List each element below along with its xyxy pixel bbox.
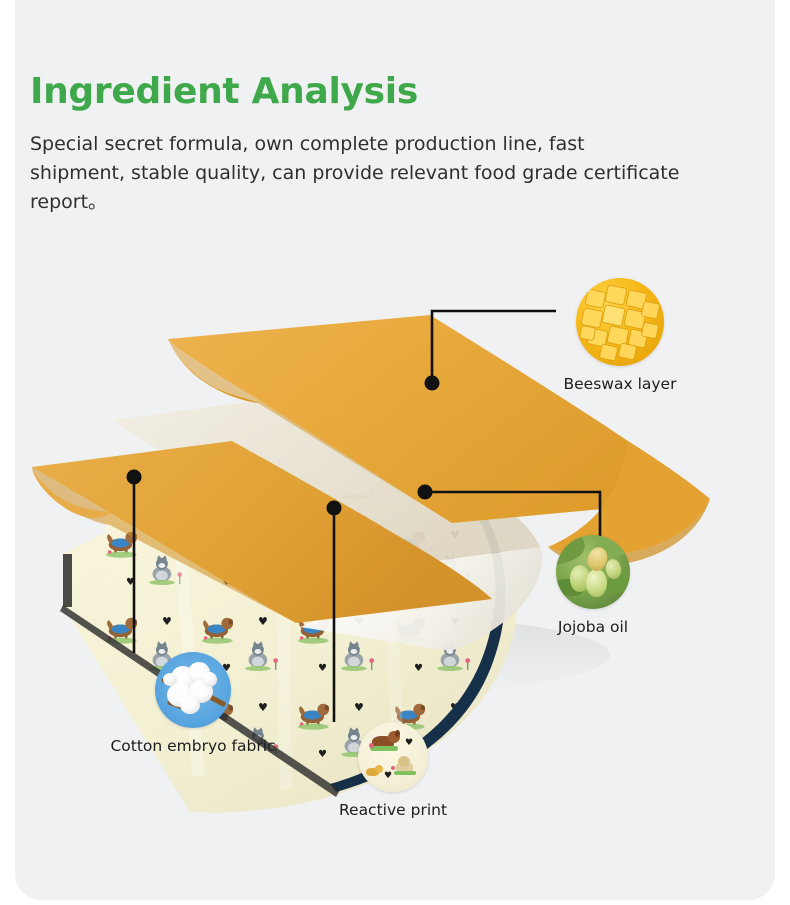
header: Ingredient Analysis Special secret formu… [30, 70, 730, 217]
jojoba-berries-icon [556, 535, 630, 609]
leader-dot-beeswax [425, 376, 440, 391]
dog-print-fabric-icon: ♥ ♥ [358, 722, 428, 792]
callout-label-reactive: Reactive print [312, 800, 474, 820]
honeycomb-icon [576, 278, 664, 366]
callout-jojoba[interactable]: Jojoba oil [556, 535, 630, 637]
leader-dot-cotton [127, 470, 142, 485]
callout-beeswax[interactable]: Beeswax layer [576, 278, 664, 394]
callout-cotton[interactable]: Cotton embryo fabric [155, 652, 231, 756]
page-subtitle: Special secret formula, own complete pro… [30, 130, 685, 217]
callout-reactive-print[interactable]: ♥ ♥ Reactive print [358, 722, 428, 820]
leader-dot-jojoba [418, 485, 433, 500]
callout-label-beeswax: Beeswax layer [516, 374, 724, 394]
callout-label-jojoba: Jojoba oil [516, 617, 670, 637]
cotton-boll-icon [155, 652, 231, 728]
page-title: Ingredient Analysis [30, 70, 730, 114]
leader-dot-reactive [327, 501, 342, 516]
callout-label-cotton: Cotton embryo fabric [97, 736, 289, 756]
page-root: Ingredient Analysis Special secret formu… [0, 0, 790, 905]
